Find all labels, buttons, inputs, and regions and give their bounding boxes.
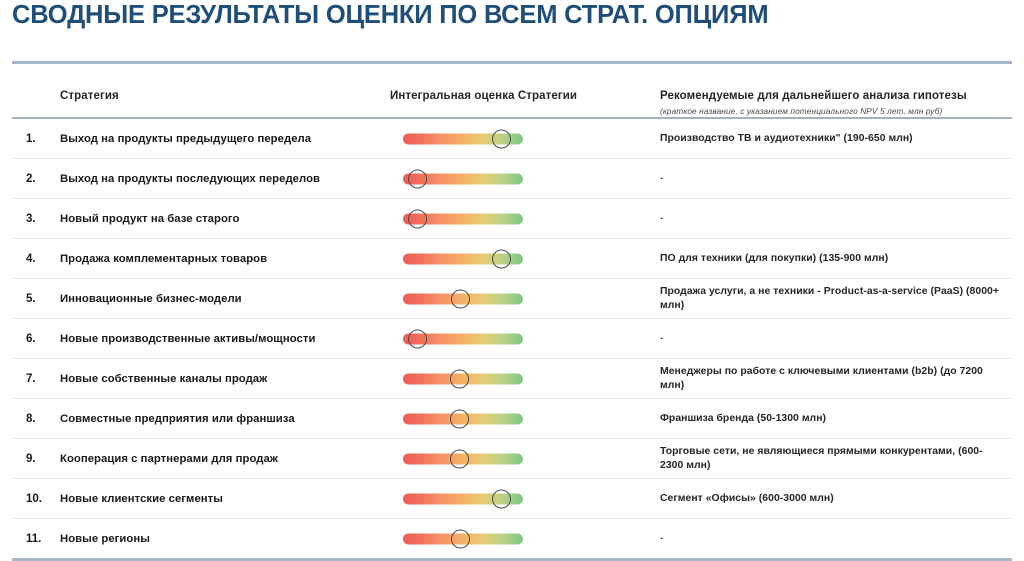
row-hypothesis: Франшиза бренда (50-1300 млн) <box>660 412 1012 426</box>
row-strategy-label: Инновационные бизнес-модели <box>60 293 390 305</box>
table-row[interactable]: 1.Выход на продукты предыдущего передела… <box>12 119 1012 159</box>
row-score-cell <box>390 239 660 278</box>
row-score-cell <box>390 359 660 398</box>
table-row[interactable]: 10.Новые клиентские сегментыСегмент «Офи… <box>12 479 1012 519</box>
table-row[interactable]: 11.Новые регионы- <box>12 519 1012 558</box>
table-row[interactable]: 7.Новые собственные каналы продажМенедже… <box>12 359 1012 399</box>
score-marker[interactable] <box>451 289 470 308</box>
table-header-row: Стратегия Интегральная оценка Стратегии … <box>12 64 1012 119</box>
score-slider[interactable] <box>403 493 523 504</box>
header-cell-hypotheses: Рекомендуемые для дальнейшего анализа ги… <box>660 64 1012 116</box>
row-hypothesis: - <box>660 172 1012 186</box>
score-slider[interactable] <box>403 133 523 144</box>
score-slider[interactable] <box>403 173 523 184</box>
row-score-cell <box>390 159 660 198</box>
score-marker[interactable] <box>450 409 469 428</box>
row-hypothesis: - <box>660 332 1012 346</box>
row-strategy-label: Новый продукт на базе старого <box>60 213 390 225</box>
score-slider[interactable] <box>403 533 523 544</box>
row-strategy-label: Продажа комплементарных товаров <box>60 253 390 265</box>
row-strategy-label: Новые производственные активы/мощности <box>60 333 390 345</box>
row-score-cell <box>390 439 660 478</box>
row-score-cell <box>390 399 660 438</box>
header-sublabel-hypotheses: (краткое название, с указанием потенциал… <box>660 106 1012 116</box>
table-row[interactable]: 4.Продажа комплементарных товаровПО для … <box>12 239 1012 279</box>
row-hypothesis: Продажа услуги, а не техники - Product-a… <box>660 285 1012 312</box>
row-number: 8. <box>12 413 60 425</box>
row-score-cell <box>390 199 660 238</box>
row-strategy-label: Совместные предприятия или франшиза <box>60 413 390 425</box>
table-row[interactable]: 2.Выход на продукты последующих передело… <box>12 159 1012 199</box>
row-score-cell <box>390 479 660 518</box>
score-marker[interactable] <box>408 329 427 348</box>
score-marker[interactable] <box>492 129 511 148</box>
row-score-cell <box>390 119 660 158</box>
score-slider[interactable] <box>403 413 523 424</box>
row-number: 2. <box>12 173 60 185</box>
header-cell-strategy: Стратегия <box>60 64 390 104</box>
table-body: 1.Выход на продукты предыдущего передела… <box>12 119 1012 558</box>
row-number: 9. <box>12 453 60 465</box>
row-hypothesis: - <box>660 532 1012 546</box>
row-strategy-label: Новые регионы <box>60 533 390 545</box>
table-row[interactable]: 6.Новые производственные активы/мощности… <box>12 319 1012 359</box>
page-title: СВОДНЫЕ РЕЗУЛЬТАТЫ ОЦЕНКИ ПО ВСЕМ СТРАТ.… <box>12 1 768 30</box>
row-strategy-label: Новые клиентские сегменты <box>60 493 390 505</box>
row-number: 4. <box>12 253 60 265</box>
row-hypothesis: Торговые сети, не являющиеся прямыми кон… <box>660 445 1012 472</box>
table-row[interactable]: 5.Инновационные бизнес-моделиПродажа усл… <box>12 279 1012 319</box>
score-slider[interactable] <box>403 293 523 304</box>
header-cell-score: Интегральная оценка Стратегии <box>390 64 660 104</box>
score-slider[interactable] <box>403 373 523 384</box>
table-row[interactable]: 8.Совместные предприятия или франшизаФра… <box>12 399 1012 439</box>
row-number: 7. <box>12 373 60 385</box>
score-slider[interactable] <box>403 253 523 264</box>
row-hypothesis: - <box>660 212 1012 226</box>
row-number: 3. <box>12 213 60 225</box>
table-row[interactable]: 3.Новый продукт на базе старого- <box>12 199 1012 239</box>
score-marker[interactable] <box>450 369 469 388</box>
row-number: 10. <box>12 493 60 505</box>
row-strategy-label: Выход на продукты последующих переделов <box>60 173 390 185</box>
strategy-assessment-table: Стратегия Интегральная оценка Стратегии … <box>12 61 1012 561</box>
row-score-cell <box>390 279 660 318</box>
table-row[interactable]: 9.Кооперация с партнерами для продажТорг… <box>12 439 1012 479</box>
score-marker[interactable] <box>408 209 427 228</box>
row-hypothesis: Производство ТВ и аудиотехники" (190-650… <box>660 132 1012 146</box>
row-number: 5. <box>12 293 60 305</box>
score-marker[interactable] <box>492 249 511 268</box>
score-marker[interactable] <box>451 529 470 548</box>
score-marker[interactable] <box>408 169 427 188</box>
row-strategy-label: Новые собственные каналы продаж <box>60 373 390 385</box>
row-number: 11. <box>12 533 60 545</box>
row-number: 6. <box>12 333 60 345</box>
row-hypothesis: ПО для техники (для покупки) (135-900 мл… <box>660 252 1012 266</box>
header-label-hypotheses: Рекомендуемые для дальнейшего анализа ги… <box>660 90 967 102</box>
score-marker[interactable] <box>492 489 511 508</box>
row-hypothesis: Менеджеры по работе с ключевыми клиентам… <box>660 365 1012 392</box>
score-slider[interactable] <box>403 213 523 224</box>
score-marker[interactable] <box>450 449 469 468</box>
score-slider[interactable] <box>403 453 523 464</box>
row-hypothesis: Сегмент «Офисы» (600-3000 млн) <box>660 492 1012 506</box>
row-strategy-label: Выход на продукты предыдущего передела <box>60 133 390 145</box>
header-label-score: Интегральная оценка Стратегии <box>390 90 577 102</box>
row-score-cell <box>390 519 660 558</box>
row-strategy-label: Кооперация с партнерами для продаж <box>60 453 390 465</box>
score-slider[interactable] <box>403 333 523 344</box>
row-score-cell <box>390 319 660 358</box>
header-label-strategy: Стратегия <box>60 90 119 102</box>
row-number: 1. <box>12 133 60 145</box>
